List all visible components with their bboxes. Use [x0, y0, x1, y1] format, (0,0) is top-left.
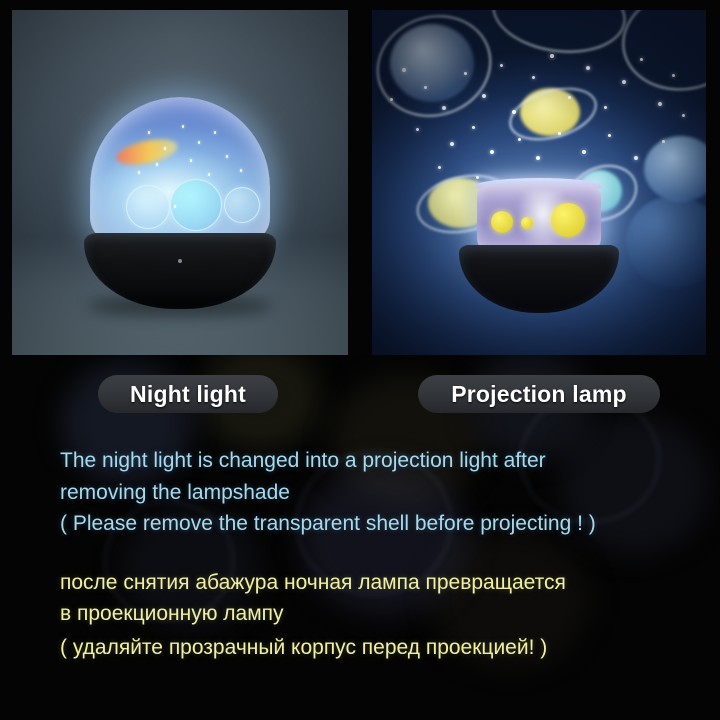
photo-vignette [372, 10, 706, 355]
night-light-photo [12, 10, 348, 355]
photo-vignette [12, 10, 348, 355]
caption-ru-line-3: ( удаляйте прозрачный корпус перед проек… [60, 637, 680, 658]
product-feature-graphic: Night light Projection lamp The night li… [0, 0, 720, 720]
caption-en-line-2: removing the lampshade [60, 482, 680, 503]
caption-ru-line-1: после снятия абажура ночная лампа превра… [60, 572, 680, 593]
caption-en-line-1: The night light is changed into a projec… [60, 450, 680, 471]
caption-en-line-3: ( Please remove the transparent shell be… [60, 513, 680, 534]
caption-ru-line-2: в проекционную лампу [60, 603, 680, 624]
label-projection-lamp: Projection lamp [418, 375, 660, 413]
projection-lamp-photo [372, 10, 706, 355]
label-night-light: Night light [98, 375, 278, 413]
